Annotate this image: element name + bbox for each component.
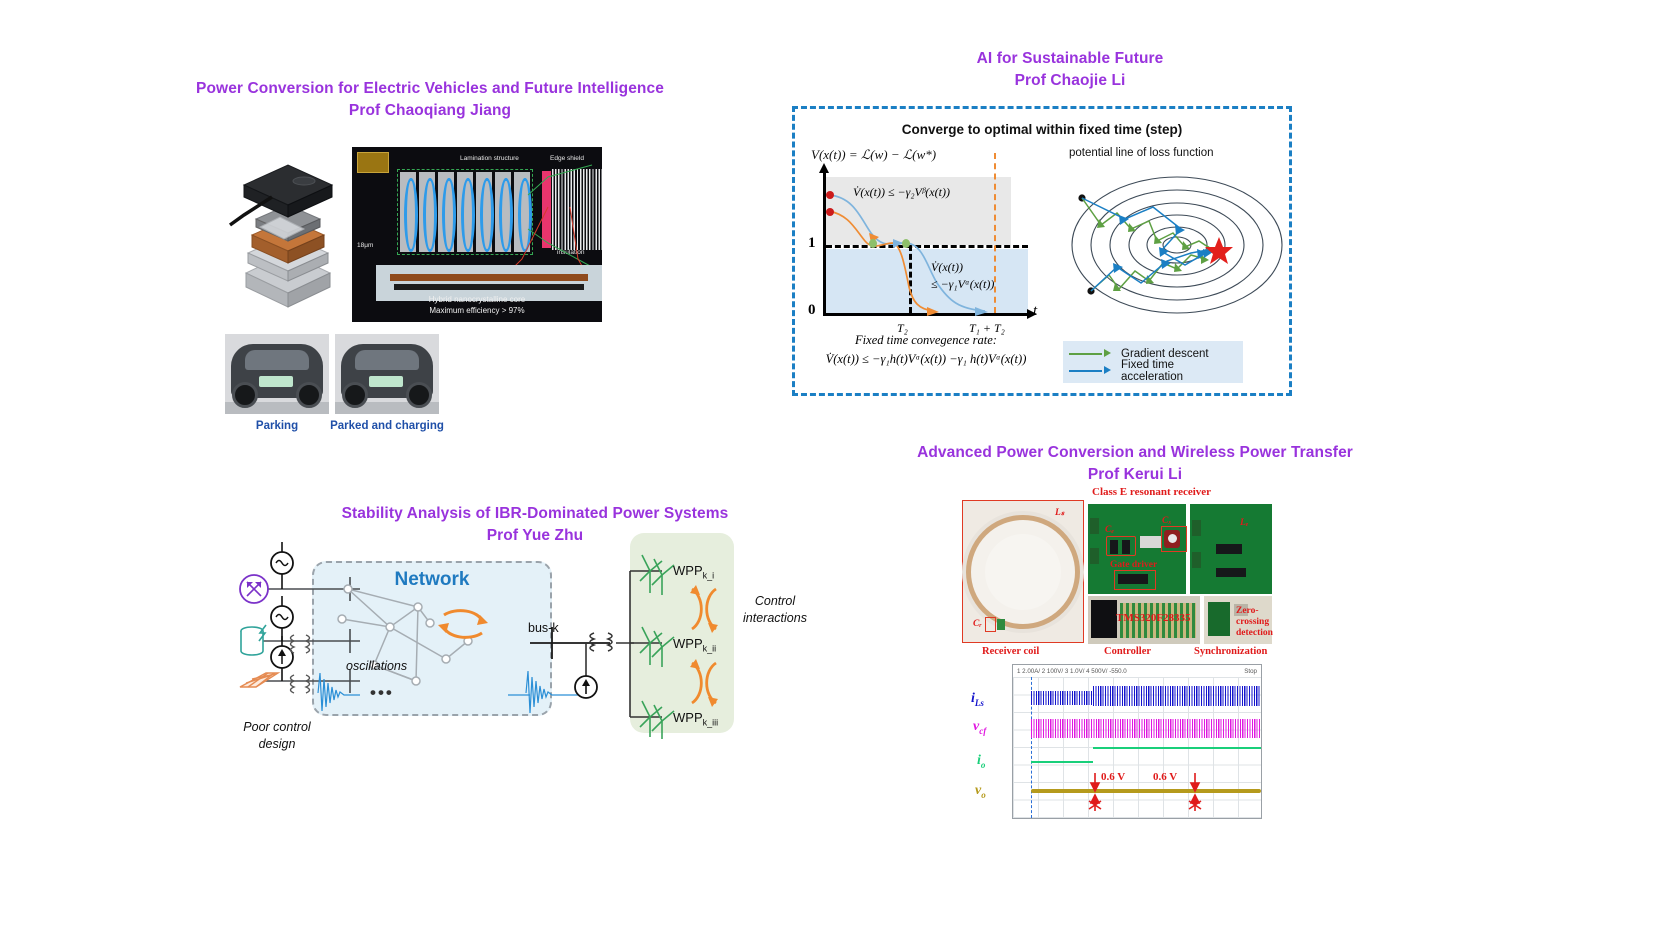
- annotation-cf: Cₑ: [1105, 525, 1114, 535]
- wpp-label-k-i: WPPk_i: [673, 563, 714, 581]
- wpp-text-2: WPP: [673, 710, 703, 725]
- panel-ev-title-line1: Power Conversion for Electric Vehicles a…: [196, 80, 664, 97]
- ch2-sub: o: [981, 760, 986, 770]
- ch0-sub: Ls: [975, 698, 984, 708]
- zero-cross-line3: detection: [1236, 628, 1273, 639]
- ai-figure-dashed-frame: Converge to optimal within fixed time (s…: [792, 106, 1292, 396]
- core-caption: Hybrid nanocrystalline core Maximum effi…: [352, 294, 602, 317]
- panel-ai-title-line1: AI for Sustainable Future: [977, 50, 1164, 67]
- converter-exploded-view-image: [226, 141, 346, 321]
- caption-controller: Controller: [1104, 646, 1151, 657]
- ai-equation-blue-band: V̇(x(t)) ≤ −γ₁Vᵅ(x(t)): [931, 259, 994, 294]
- ev-images-row: 18μm Lamination structure Edge shield in…: [150, 141, 710, 326]
- ai-equation-blue-line2: ≤ −γ₁Vᵅ(x(t)): [931, 276, 994, 293]
- annotation-ls: Lₛ: [1055, 507, 1064, 518]
- panel-wpt-title-line2: Prof Kerui Li: [880, 464, 1390, 486]
- plot-cross-dot-2: [902, 239, 910, 248]
- car-photo-parked-charging: [335, 334, 439, 414]
- class-e-board-left: Cₑ Cₓ Gate driver: [1088, 504, 1186, 594]
- poor-control-line2: design: [222, 736, 332, 753]
- poor-control-design-label: Poor control design: [222, 719, 332, 753]
- hybrid-nanocrystalline-core-image: 18μm Lamination structure Edge shield in…: [352, 147, 602, 322]
- panel-ai-sustainable-future: AI for Sustainable Future Prof Chaojie L…: [860, 48, 1280, 93]
- control-interactions-line2: interactions: [730, 610, 820, 627]
- class-e-board-right: Lₑ: [1190, 504, 1272, 594]
- poor-control-line1: Poor control: [222, 719, 332, 736]
- oscilloscope-waveform-capture: 1 2.00A/ 2 100V/ 3 1.0V/ 4 500V/ -550.0 …: [1012, 664, 1262, 819]
- oscillations-label: oscillations: [346, 659, 407, 673]
- ai-equation-blue-line1: V̇(x(t)): [931, 259, 994, 276]
- ellipsis-label: •••: [370, 683, 394, 703]
- scope-channel-label-vcf: vcf: [973, 719, 986, 736]
- annotation-lf: Lₑ: [1240, 518, 1248, 528]
- wpp-text-1: WPP: [673, 636, 703, 651]
- plot-start-dot-2: [826, 208, 834, 216]
- panel-ai-title: AI for Sustainable Future Prof Chaojie L…: [860, 48, 1280, 93]
- ai-rate-equation: V̇(x(t)) ≤ −γ₁h(t)Vᵅ(x(t)) −γ₁ h(t)Vᵅ(x(…: [801, 350, 1051, 369]
- panel-stability-analysis: Stability Analysis of IBR-Dominated Powe…: [280, 503, 790, 548]
- zero-cross-line1: Zero-: [1236, 606, 1273, 617]
- arrow-icon-green: [1069, 349, 1113, 359]
- scope-channel-label-ils: iLs: [971, 691, 984, 708]
- caption-synchronization: Synchronization: [1194, 646, 1267, 657]
- plot-ytick-1: 1: [808, 235, 816, 252]
- wpp-label-k-iii: WPPk_iii: [673, 710, 718, 728]
- contour-graphic: [1057, 163, 1283, 333]
- annotation-cd: Cₓ: [1162, 516, 1172, 526]
- scope-channel-label-io: io: [977, 753, 985, 770]
- annotation-gate-driver: Gate driver: [1110, 560, 1157, 570]
- scope-annotation-drop-2: 0.6 V: [1153, 771, 1177, 783]
- stability-system-diagram: Network: [230, 541, 810, 756]
- wpp-sub-1: k_ii: [703, 644, 717, 654]
- annotation-class-e: Class E resonant receiver: [1092, 486, 1211, 498]
- caption-receiver-coil: Receiver coil: [982, 646, 1039, 657]
- control-interactions-line1: Control: [730, 593, 820, 610]
- plot-cross-dot-1: [869, 239, 877, 248]
- panel-wpt-title: Advanced Power Conversion and Wireless P…: [880, 442, 1390, 487]
- wpp-sub-0: k_i: [703, 571, 715, 581]
- panel-wpt-title-line1: Advanced Power Conversion and Wireless P…: [917, 444, 1353, 461]
- ai-equation-grey-band: V̇(x(t)) ≤ −γ₂Vᵝ(x(t)): [853, 185, 950, 200]
- ai-contour-plot: potential line of loss function: [1057, 147, 1283, 337]
- plot-xaxis-label: t: [1033, 303, 1037, 320]
- arrow-icon-blue: [1069, 366, 1113, 376]
- wpt-hardware-photos: Lₛ Cᵣ Class E resonant receiver Cₑ Cₓ Ga…: [962, 496, 1282, 651]
- panel-power-conversion-ev: Power Conversion for Electric Vehicles a…: [150, 78, 710, 444]
- ai-figure-heading: Converge to optimal within fixed time (s…: [795, 122, 1289, 137]
- synchronization-photo: Zero- crossing detection: [1204, 596, 1272, 644]
- receiver-coil-photo: Lₛ Cᵣ: [962, 500, 1084, 643]
- controller-photo: TMS320F28335: [1088, 596, 1200, 644]
- annotation-dsp: TMS320F28335: [1116, 612, 1191, 624]
- plot-ytick-0: 0: [808, 302, 816, 319]
- core-caption-line2: Maximum efficiency > 97%: [352, 305, 602, 317]
- panel-ai-title-line2: Prof Chaojie Li: [860, 70, 1280, 92]
- wpp-sub-2: k_iii: [703, 718, 719, 728]
- car-caption-parked-charging: Parked and charging: [322, 420, 452, 432]
- scope-drop-annotations: [1013, 665, 1261, 818]
- scope-annotation-drop-1: 0.6 V: [1101, 771, 1125, 783]
- panel-ev-title: Power Conversion for Electric Vehicles a…: [150, 78, 710, 123]
- panel-stability-title-line1: Stability Analysis of IBR-Dominated Powe…: [342, 505, 729, 522]
- bus-k-label: bus-k: [528, 621, 559, 635]
- core-caption-line1: Hybrid nanocrystalline core: [352, 294, 602, 306]
- ai-convergence-rate-block: Fixed time convegence rate: V̇(x(t)) ≤ −…: [801, 331, 1051, 369]
- ev-car-photos-row: Parking Parked and charging: [150, 334, 710, 444]
- ai-convergence-plot: V̇(x(t)) ≤ −γ₂Vᵝ(x(t)) V̇(x(t)) ≤ −γ₁Vᵅ(…: [809, 171, 1039, 331]
- wpp-text-0: WPP: [673, 563, 703, 578]
- panel-wireless-power-transfer: Advanced Power Conversion and Wireless P…: [880, 442, 1390, 487]
- annotation-zero-crossing: Zero- crossing detection: [1236, 606, 1273, 639]
- scope-channel-label-vo: vo: [975, 783, 986, 800]
- ai-rate-title: Fixed time convegence rate:: [801, 331, 1051, 350]
- contour-caption: potential line of loss function: [1069, 147, 1213, 159]
- ch3-sub: o: [981, 790, 986, 800]
- annotation-cr: Cᵣ: [973, 619, 981, 629]
- legend-item-fixed-time: Fixed time acceleration: [1069, 362, 1237, 379]
- panel-ev-title-line2: Prof Chaoqiang Jiang: [150, 100, 710, 122]
- control-interactions-label: Control interactions: [730, 593, 820, 627]
- ai-equation-lyapunov: V(x(t)) = ℒ(w) − ℒ(w*): [811, 147, 936, 163]
- wpp-label-k-ii: WPPk_ii: [673, 636, 716, 654]
- legend-label-fixed-time-acceleration: Fixed time acceleration: [1121, 359, 1237, 383]
- plot-start-dot-1: [826, 191, 834, 199]
- ai-legend: Gradient descent Fixed time acceleration: [1063, 341, 1243, 383]
- car-photo-parking: [225, 334, 329, 414]
- zero-cross-line2: crossing: [1236, 617, 1273, 628]
- ch1-sub: cf: [979, 726, 986, 736]
